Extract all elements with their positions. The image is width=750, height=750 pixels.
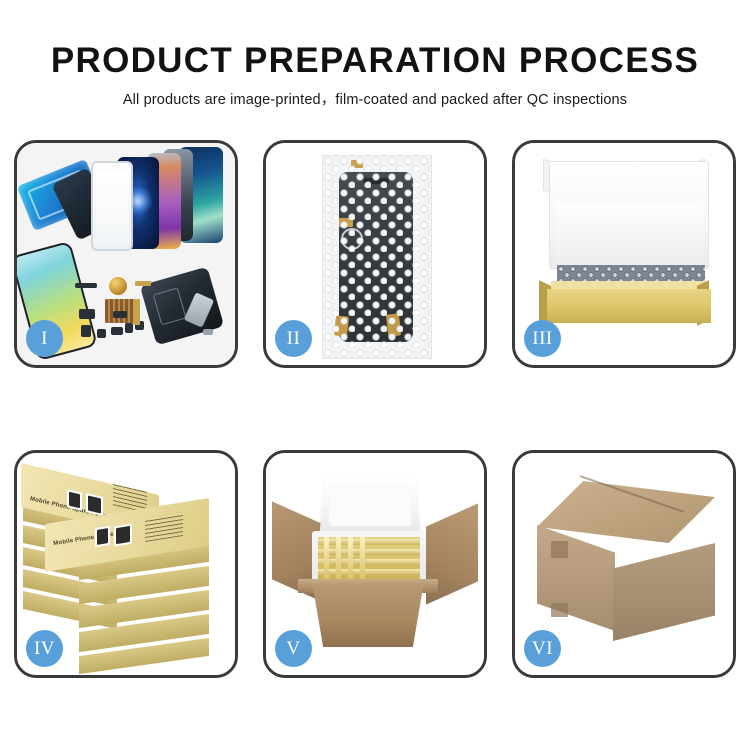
step-badge-3: III	[524, 320, 561, 357]
carton-front-face	[302, 585, 434, 647]
part-graphic	[203, 329, 213, 335]
part-graphic	[113, 311, 127, 318]
product-photo-swatch	[114, 524, 132, 547]
process-step-panel-6: VI	[512, 450, 736, 678]
part-graphic	[97, 329, 106, 338]
process-panel-grid: I II	[14, 140, 736, 686]
process-step-panel-5: V	[263, 450, 487, 678]
step-badge-2: II	[275, 320, 312, 357]
process-step-panel-3: III	[512, 140, 736, 368]
product-photo-swatch	[95, 526, 110, 547]
bubble-wrap-bag-graphic	[322, 155, 432, 359]
retail-box-strip	[336, 537, 341, 579]
page-header: PRODUCT PREPARATION PROCESS All products…	[0, 0, 750, 132]
flex-cable-graphic	[133, 299, 140, 325]
step-badge-5: V	[275, 630, 312, 667]
foam-pad-graphic	[555, 203, 703, 265]
part-graphic	[125, 323, 133, 333]
product-photo-swatch	[67, 489, 82, 510]
step-badge-1: I	[26, 320, 63, 357]
product-photo-swatch	[86, 493, 103, 516]
part-graphic	[79, 309, 95, 319]
page-title: PRODUCT PREPARATION PROCESS	[0, 0, 750, 82]
retail-box-slab	[318, 559, 420, 565]
bubble-texture-graphic	[323, 156, 431, 358]
retail-box-slab	[318, 549, 420, 555]
process-step-panel-2: II	[263, 140, 487, 368]
foam-cooler-lid	[319, 477, 420, 535]
page-subtitle: All products are image-printed，film-coat…	[0, 82, 750, 109]
retail-box-slab	[318, 569, 420, 575]
retail-box-strip	[348, 537, 353, 579]
step-badge-4: IV	[26, 630, 63, 667]
retail-box-strip	[360, 537, 365, 579]
carton-tape-patch	[551, 541, 568, 558]
part-graphic	[81, 325, 91, 337]
retail-box-slab	[318, 539, 420, 545]
step-badge-6: VI	[524, 630, 561, 667]
speaker-component-graphic	[109, 277, 127, 295]
retail-boxes-inside	[318, 537, 420, 579]
part-graphic	[75, 283, 97, 288]
process-step-panel-1: I	[14, 140, 238, 368]
box-tray-front-graphic	[547, 289, 711, 323]
part-graphic	[111, 327, 123, 335]
carton-tape-patch	[551, 603, 568, 617]
screen-protector-graphic	[91, 161, 133, 251]
retail-box-strip	[324, 537, 329, 579]
process-step-panel-4: Mobile Phone Spare Parts Mobile Phone Sp…	[14, 450, 238, 678]
flex-cable-graphic	[135, 281, 151, 286]
